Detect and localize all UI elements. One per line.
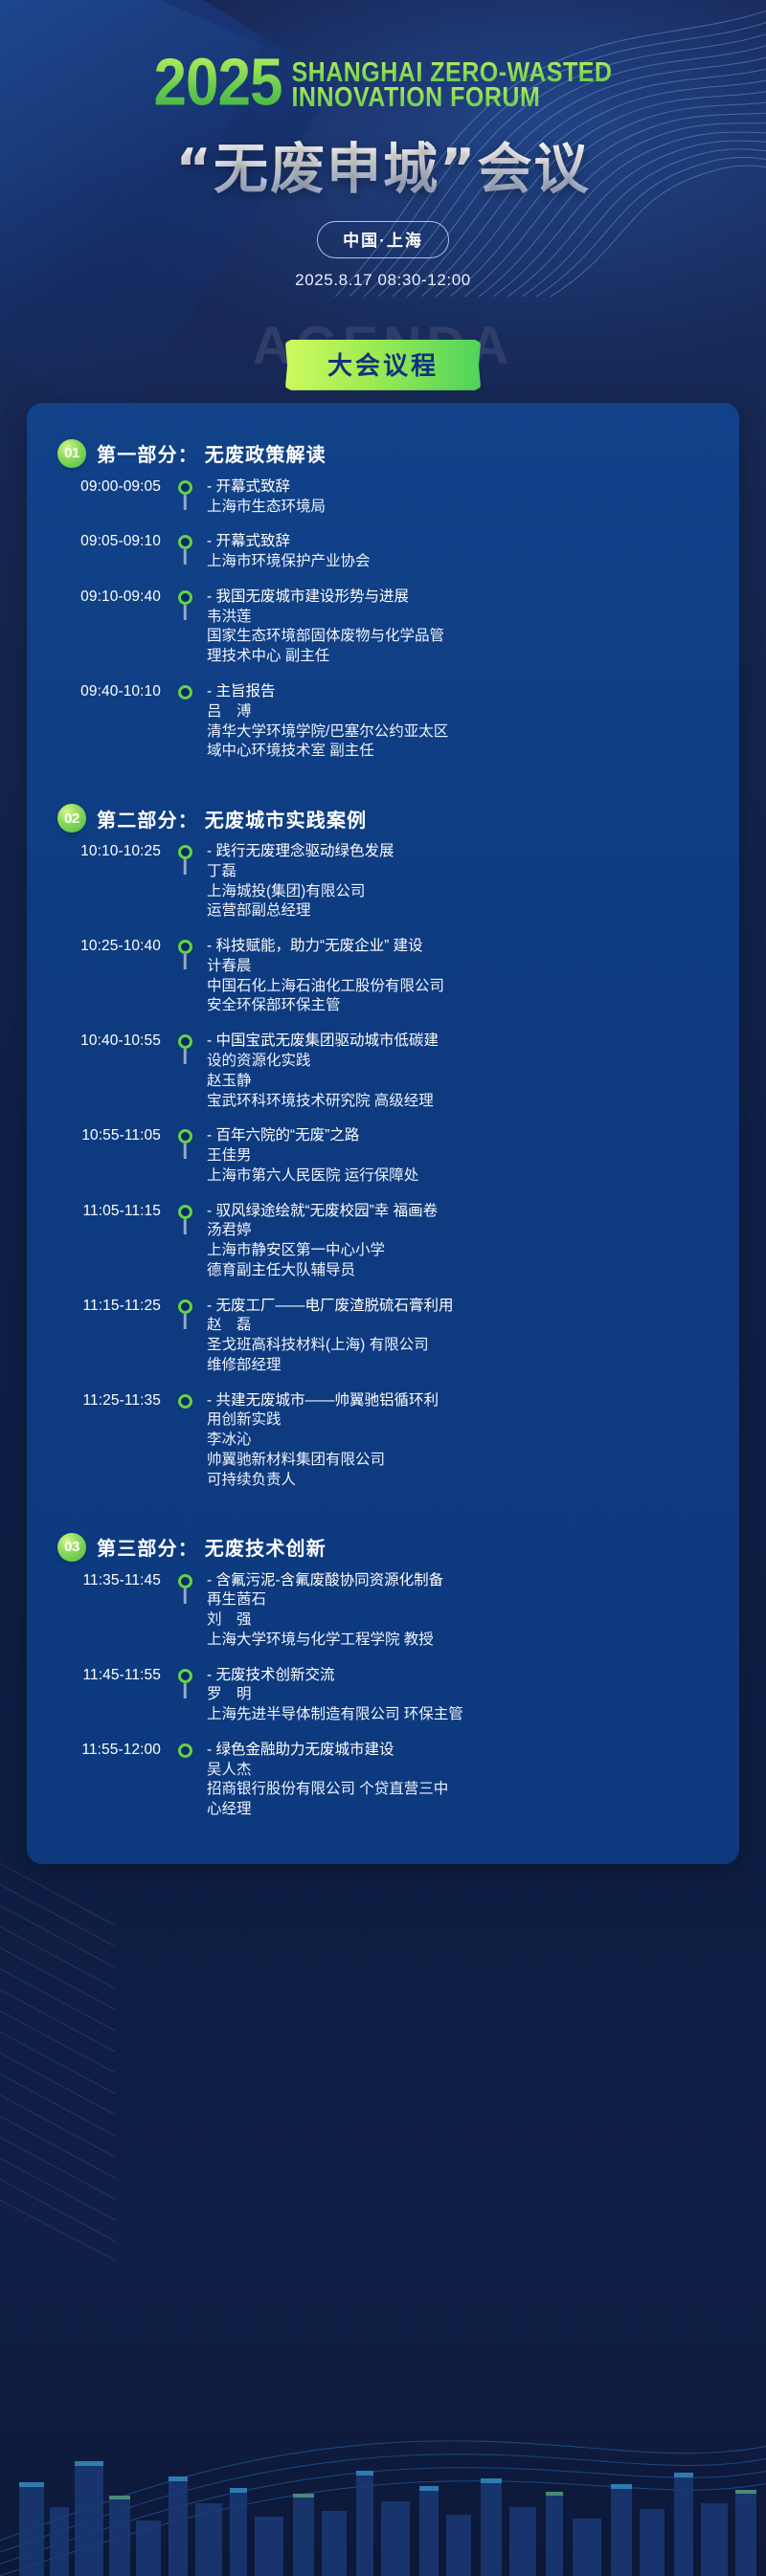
timeline-marker-column [172,842,197,859]
timeline-dot-icon [178,1394,192,1409]
agenda-item-topic: - 我国无废城市建设形势与进展 [207,588,724,608]
agenda-item[interactable]: 09:05-09:10- 开幕式致辞上海市环境保护产业协会 [27,532,739,588]
agenda-item-detail-line: 上海城投(集团)有限公司 [207,882,724,902]
section-number-badge: 03 [57,1533,86,1562]
chinese-title: “无废申城”会议 [0,125,766,204]
agenda-item[interactable]: 11:25-11:35- 共建无废城市——帅翼驰铝循环利用创新实践李冰沁帅翼驰新… [27,1391,739,1506]
agenda-item[interactable]: 11:55-12:00- 绿色金融助力无废城市建设吴人杰招商银行股份有限公司 个… [27,1741,739,1835]
english-title-line2: INNOVATION FORUM [291,83,612,112]
section-number-badge: 02 [57,804,86,833]
agenda-item-detail-line: 汤君婷 [207,1221,724,1241]
agenda-item-detail-line: 宝武环科环境技术研究院 高级经理 [207,1092,724,1112]
agenda-item-topic: - 开幕式致辞 [207,532,724,552]
agenda-item-detail-line: 心经理 [207,1800,724,1820]
section-item-list: 10:10-10:25- 践行无废理念驱动绿色发展丁磊上海城投(集团)有限公司运… [27,842,739,1505]
agenda-card: 01第一部分： 无废政策解读09:00-09:05- 开幕式致辞上海市生态环境局… [27,403,739,1864]
agenda-item-time: 09:10-09:40 [27,588,172,606]
agenda-item-body: - 含氟污泥-含氟废酸协同资源化制备再生莤石刘 强上海大学环境与化学工程学院 教… [197,1571,739,1651]
section-item-list: 09:00-09:05- 开幕式致辞上海市生态环境局09:05-09:10- 开… [27,477,739,777]
section-title: 第二部分： 无废城市实践案例 [97,805,367,833]
agenda-item-body: - 主旨报告吕 溥清华大学环境学院/巴塞尔公约亚太区域中心环境技术室 副主任 [197,682,739,762]
agenda-item-body: - 开幕式致辞上海市生态环境局 [197,477,739,518]
agenda-item-topic: - 绿色金融助力无废城市建设 [207,1741,724,1761]
agenda-item-body: - 驭风绿途绘就“无废校园”幸 福画卷汤君婷上海市静安区第一中心小学德育副主任大… [197,1202,739,1281]
agenda-item-time: 09:00-09:05 [27,477,172,496]
agenda-item-topic: - 无废技术创新交流 [207,1666,724,1686]
agenda-item[interactable]: 11:45-11:55- 无废技术创新交流罗 明上海先进半导体制造有限公司 环保… [27,1666,739,1741]
agenda-item-time: 11:35-11:45 [27,1571,172,1589]
timeline-marker-column [172,1032,197,1049]
agenda-item-topic: - 百年六院的“无废”之路 [207,1126,724,1146]
timeline-dot-icon [178,1743,192,1758]
agenda-item[interactable]: 11:35-11:45- 含氟污泥-含氟废酸协同资源化制备再生莤石刘 强上海大学… [27,1571,739,1666]
agenda-item-time: 11:45-11:55 [27,1666,172,1684]
agenda-item-time: 10:10-10:25 [27,842,172,860]
agenda-ribbon: 大会议程 [285,340,481,390]
agenda-item-topic: - 中国宝武无废集团驱动城市低碳建 [207,1032,724,1052]
agenda-item-detail-line: 安全环保部环保主管 [207,996,724,1016]
section-number-badge: 01 [57,439,86,468]
agenda-item-detail-line: 帅翼驰新材料集团有限公司 [207,1451,724,1471]
agenda-item-time: 09:40-10:10 [27,682,172,700]
agenda-item[interactable]: 11:15-11:25- 无废工厂——电厂废渣脱硫石膏利用赵 磊圣戈班高科技材料… [27,1297,739,1391]
agenda-item-detail-line: 用创新实践 [207,1410,724,1431]
agenda-item-body: - 无废技术创新交流罗 明上海先进半导体制造有限公司 环保主管 [197,1666,739,1725]
section-header-02: 02第二部分： 无废城市实践案例 [27,788,739,842]
agenda-item-detail-line: 可持续负责人 [207,1471,724,1491]
agenda-item-detail-line: 计春晨 [207,957,724,977]
timeline-marker-column [172,937,197,954]
agenda-item-detail-line: 上海市生态环境局 [207,498,724,518]
agenda-item-time: 09:05-09:10 [27,532,172,550]
agenda-item[interactable]: 10:25-10:40- 科技赋能，助力“无废企业” 建设计春晨中国石化上海石油… [27,937,739,1032]
year-text: 2025 [154,52,282,115]
agenda-item-topic: - 驭风绿途绘就“无废校园”幸 福画卷 [207,1202,724,1222]
timeline-dot-icon [178,590,192,605]
section-gap [27,1506,739,1518]
section-title: 第一部分： 无废政策解读 [97,439,327,467]
timeline-marker-column [172,1391,197,1409]
timeline-dot-icon [178,685,192,700]
timeline-marker-column [172,682,197,700]
section-header-01: 01第一部分： 无废政策解读 [27,424,739,477]
timeline-dot-icon [178,1669,192,1683]
agenda-item-time: 10:40-10:55 [27,1032,172,1050]
agenda-item-topic: - 开幕式致辞 [207,477,724,498]
agenda-item-time: 11:55-12:00 [27,1741,172,1759]
agenda-item[interactable]: 09:10-09:40- 我国无废城市建设形势与进展韦洪莲国家生态环境部固体废物… [27,588,739,682]
english-title: SHANGHAI ZERO-WASTED INNOVATION FORUM [291,58,612,109]
timeline-marker-column [172,1571,197,1588]
agenda-item[interactable]: 09:40-10:10- 主旨报告吕 溥清华大学环境学院/巴塞尔公约亚太区域中心… [27,682,739,777]
timeline-marker-column [172,477,197,495]
agenda-item-detail-line: 赵 磊 [207,1316,724,1336]
agenda-item-detail-line: 上海先进半导体制造有限公司 环保主管 [207,1705,724,1725]
agenda-item-detail-line: 运营部副总经理 [207,901,724,922]
agenda-item-topic: - 含氟污泥-含氟废酸协同资源化制备 [207,1571,724,1591]
section-gap [27,777,739,788]
agenda-item-detail-line: 设的资源化实践 [207,1052,724,1072]
agenda-item-body: - 践行无废理念驱动绿色发展丁磊上海城投(集团)有限公司运营部副总经理 [197,842,739,922]
agenda-item-detail-line: 丁磊 [207,862,724,882]
agenda-item-topic: - 共建无废城市——帅翼驰铝循环利 [207,1391,724,1411]
agenda-ribbon-label: 大会议程 [327,351,439,380]
agenda-item-topic: - 主旨报告 [207,682,724,702]
location-badge: 中国·上海 [317,221,449,258]
agenda-item-detail-line: 王佳男 [207,1146,724,1166]
agenda-item-body: - 开幕式致辞上海市环境保护产业协会 [197,532,739,572]
agenda-item-topic: - 科技赋能，助力“无废企业” 建设 [207,937,724,957]
agenda-item[interactable]: 11:05-11:15- 驭风绿途绘就“无废校园”幸 福画卷汤君婷上海市静安区第… [27,1202,739,1297]
timeline-dot-icon [178,480,192,495]
timeline-marker-column [172,588,197,605]
timeline-dot-icon [178,845,192,859]
agenda-item[interactable]: 10:10-10:25- 践行无废理念驱动绿色发展丁磊上海城投(集团)有限公司运… [27,842,739,937]
agenda-item-detail-line: 吕 溥 [207,702,724,722]
agenda-item[interactable]: 10:40-10:55- 中国宝武无废集团驱动城市低碳建设的资源化实践赵玉静宝武… [27,1032,739,1126]
agenda-item-body: - 无废工厂——电厂废渣脱硫石膏利用赵 磊圣戈班高科技材料(上海) 有限公司维修… [197,1297,739,1376]
agenda-item-detail-line: 赵玉静 [207,1072,724,1092]
timeline-marker-column [172,532,197,549]
timeline-dot-icon [178,1129,192,1144]
agenda-item-detail-line: 上海大学环境与化学工程学院 教授 [207,1631,724,1651]
agenda-item-body: - 共建无废城市——帅翼驰铝循环利用创新实践李冰沁帅翼驰新材料集团有限公司可持续… [197,1391,739,1491]
timeline-marker-column [172,1741,197,1758]
agenda-item-body: - 百年六院的“无废”之路王佳男上海市第六人民医院 运行保障处 [197,1126,739,1186]
agenda-item-topic: - 践行无废理念驱动绿色发展 [207,842,724,862]
agenda-item-body: - 我国无废城市建设形势与进展韦洪莲国家生态环境部固体废物与化学品管理技术中心 … [197,588,739,667]
agenda-item-detail-line: 招商银行股份有限公司 个贷直营三中 [207,1780,724,1800]
agenda-item-detail-line: 上海市第六人民医院 运行保障处 [207,1166,724,1187]
agenda-item-detail-line: 刘 强 [207,1610,724,1631]
agenda-item-body: - 绿色金融助力无废城市建设吴人杰招商银行股份有限公司 个贷直营三中心经理 [197,1741,739,1820]
poster-header: 2025 SHANGHAI ZERO-WASTED INNOVATION FOR… [0,0,766,290]
timeline-dot-icon [178,535,192,549]
agenda-item-detail-line: 理技术中心 副主任 [207,647,724,667]
timeline-marker-column [172,1202,197,1219]
agenda-item-time: 10:55-11:05 [27,1126,172,1144]
agenda-item-detail-line: 韦洪莲 [207,608,724,628]
agenda-item-detail-line: 再生莤石 [207,1590,724,1610]
timeline-marker-column [172,1126,197,1144]
timeline-dot-icon [178,1299,192,1314]
timeline-dot-icon [178,1574,192,1588]
agenda-item-body: - 科技赋能，助力“无废企业” 建设计春晨中国石化上海石油化工股份有限公司安全环… [197,937,739,1016]
agenda-item-detail-line: 域中心环境技术室 副主任 [207,742,724,762]
title-kicker-row: 2025 SHANGHAI ZERO-WASTED INNOVATION FOR… [0,56,766,112]
agenda-item-detail-line: 中国石化上海石油化工股份有限公司 [207,977,724,997]
agenda-item-topic: - 无废工厂——电厂废渣脱硫石膏利用 [207,1297,724,1317]
agenda-item-body: - 中国宝武无废集团驱动城市低碳建设的资源化实践赵玉静宝武环科环境技术研究院 高… [197,1032,739,1111]
timeline-marker-column [172,1297,197,1314]
section-title: 第三部分： 无废技术创新 [97,1533,327,1561]
agenda-item-time: 10:25-10:40 [27,937,172,955]
agenda-item-detail-line: 维修部经理 [207,1356,724,1376]
agenda-item-time: 11:15-11:25 [27,1297,172,1315]
agenda-item[interactable]: 10:55-11:05- 百年六院的“无废”之路王佳男上海市第六人民医院 运行保… [27,1126,739,1201]
section-item-list: 11:35-11:45- 含氟污泥-含氟废酸协同资源化制备再生莤石刘 强上海大学… [27,1571,739,1835]
datetime-text: 2025.8.17 08:30-12:00 [0,271,766,290]
section-header-03: 03第三部分： 无废技术创新 [27,1518,739,1571]
agenda-item-detail-line: 国家生态环境部固体废物与化学品管 [207,627,724,647]
agenda-item-detail-line: 上海市静安区第一中心小学 [207,1241,724,1261]
pink-lines-decoration [0,1858,115,2260]
timeline-dot-icon [178,1205,192,1219]
bottom-skyline-decoration [0,2260,766,2576]
timeline-dot-icon [178,1034,192,1049]
agenda-title-block: AGENDA 大会议程 [0,319,766,389]
agenda-item-detail-line: 吴人杰 [207,1761,724,1781]
agenda-item-detail-line: 圣戈班高科技材料(上海) 有限公司 [207,1336,724,1356]
agenda-item-time: 11:25-11:35 [27,1391,172,1410]
agenda-item[interactable]: 09:00-09:05- 开幕式致辞上海市生态环境局 [27,477,739,533]
agenda-item-detail-line: 清华大学环境学院/巴塞尔公约亚太区 [207,722,724,743]
agenda-item-detail-line: 德育副主任大队辅导员 [207,1261,724,1281]
agenda-item-detail-line: 罗 明 [207,1685,724,1705]
timeline-marker-column [172,1666,197,1683]
timeline-dot-icon [178,940,192,954]
agenda-item-detail-line: 李冰沁 [207,1431,724,1451]
agenda-item-time: 11:05-11:15 [27,1202,172,1220]
agenda-item-detail-line: 上海市环境保护产业协会 [207,552,724,572]
